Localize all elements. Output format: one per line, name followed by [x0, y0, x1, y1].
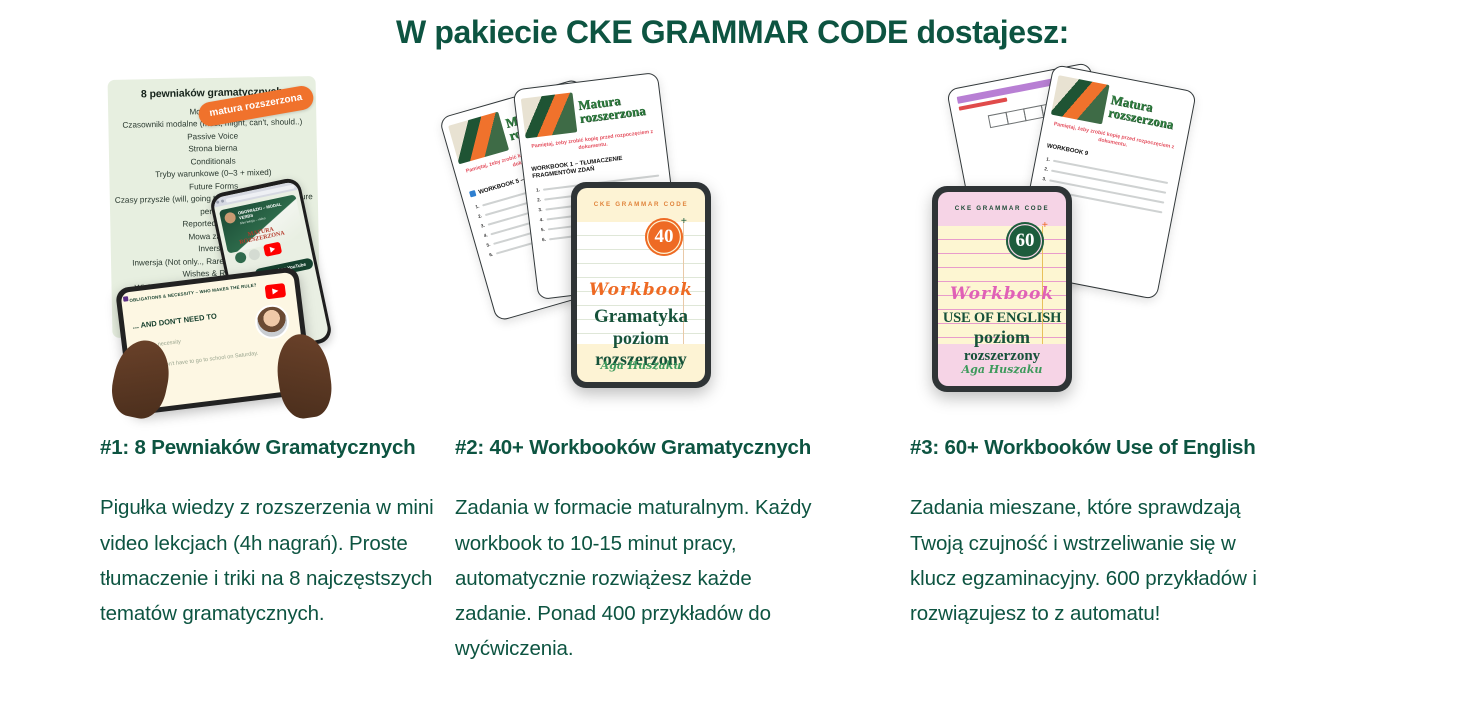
cover-brand: CKE GRAMMAR CODE — [577, 201, 705, 208]
browser-dot-icon — [221, 199, 225, 203]
banner-photo — [521, 92, 577, 138]
cover-title-line1: Gramatyka — [581, 306, 701, 328]
workbook-screen: CKE GRAMMAR CODE 60 + Workbook USE OF EN… — [938, 192, 1066, 386]
feature-3-body: Zadania mieszane, które sprawdzają Twoją… — [910, 490, 1285, 631]
cover-signature: Aga Huszaku — [938, 363, 1066, 376]
slide-heading: ... AND DON'T NEED TO — [132, 312, 217, 331]
avatar — [224, 211, 237, 224]
cover-background: CKE GRAMMAR CODE 60 + Workbook USE OF EN… — [938, 192, 1066, 386]
badge-number: 40 — [655, 226, 674, 248]
workbook-cover-use-of-english: CKE GRAMMAR CODE 60 + Workbook USE OF EN… — [932, 186, 1072, 392]
feature-1-artwork: 8 pewniaków gramatycznych Modal Verbs Cz… — [100, 72, 460, 420]
feature-2-artwork: Matura rozszerzona Pamiętaj, żeby zrobić… — [463, 72, 823, 420]
youtube-icon[interactable] — [263, 242, 282, 257]
count-badge-40: 40 + — [645, 218, 683, 256]
feature-2-body: Zadania w formacie maturalnym. Każdy wor… — [455, 490, 830, 666]
youtube-icon[interactable] — [265, 283, 287, 299]
promo-section: W pakiecie CKE GRAMMAR CODE dostajesz: 8… — [0, 0, 1465, 724]
badge-number: 60 — [1016, 230, 1035, 252]
play-circle-icon[interactable] — [234, 251, 247, 264]
cover-title-line2: poziom — [581, 328, 701, 349]
slide-eyebrow: OBLIGATIONS & NECESSITY – WHO MAKES THE … — [129, 282, 257, 303]
feature-3-heading: #3: 60+ Workbooków Use of English — [910, 434, 1285, 462]
presenter-avatar — [253, 303, 291, 341]
feature-column-1: 8 pewniaków gramatycznych Modal Verbs Cz… — [0, 72, 455, 724]
feature-1-body: Pigułka wiedzy z rozszerzenia w mini vid… — [100, 490, 455, 631]
cover-script-word: Workbook — [577, 280, 705, 300]
badge-plus: + — [1042, 220, 1048, 231]
feature-2-heading: #2: 40+ Workbooków Gramatycznych — [455, 434, 830, 462]
banner-photo — [1051, 75, 1110, 124]
cover-brand: CKE GRAMMAR CODE — [938, 205, 1066, 212]
banner-title: Matura rozszerzona — [577, 90, 656, 125]
badge-plus: + — [681, 216, 687, 227]
page-title: W pakiecie CKE GRAMMAR CODE dostajesz: — [0, 14, 1465, 51]
cover-title-line1: USE OF ENGLISH — [942, 310, 1062, 327]
cover-main-title: USE OF ENGLISH poziom rozszerzony — [942, 310, 1062, 365]
thumbnail-overlay-text: MATURA ROZSZERZONA — [225, 222, 299, 249]
banner-title: Matura rozszerzona — [1107, 93, 1187, 133]
workbook-screen: CKE GRAMMAR CODE 40 + Workbook Gramatyka… — [577, 188, 705, 382]
feature-1-heading: #1: 8 Pewniaków Gramatycznych — [100, 434, 455, 462]
secondary-circle-icon[interactable] — [248, 248, 261, 261]
feature-3-artwork: Matura rozszerzona Pamiętaj, żeby zrobić… — [910, 72, 1270, 420]
count-badge-60: 60 + — [1006, 222, 1044, 260]
cover-background: CKE GRAMMAR CODE 40 + Workbook Gramatyka… — [577, 188, 705, 382]
video-title: OBOWIĄZKI – MODAL VERBS — [237, 199, 295, 221]
cover-script-word: Workbook — [938, 284, 1066, 304]
banner-photo — [448, 112, 509, 165]
cover-title-line2: poziom — [942, 327, 1062, 348]
browser-dot-icon — [216, 200, 220, 204]
workbook-cover-gramatyka: CKE GRAMMAR CODE 40 + Workbook Gramatyka… — [571, 182, 711, 388]
doc-icon — [469, 190, 476, 197]
feature-column-3: Matura rozszerzona Pamiętaj, żeby zrobić… — [910, 72, 1365, 724]
feature-column-2: Matura rozszerzona Pamiętaj, żeby zrobić… — [455, 72, 910, 724]
cover-signature: Aga Huszaku — [577, 359, 705, 372]
feature-columns: 8 pewniaków gramatycznych Modal Verbs Cz… — [0, 72, 1465, 724]
brand-logo-icon — [123, 296, 129, 302]
